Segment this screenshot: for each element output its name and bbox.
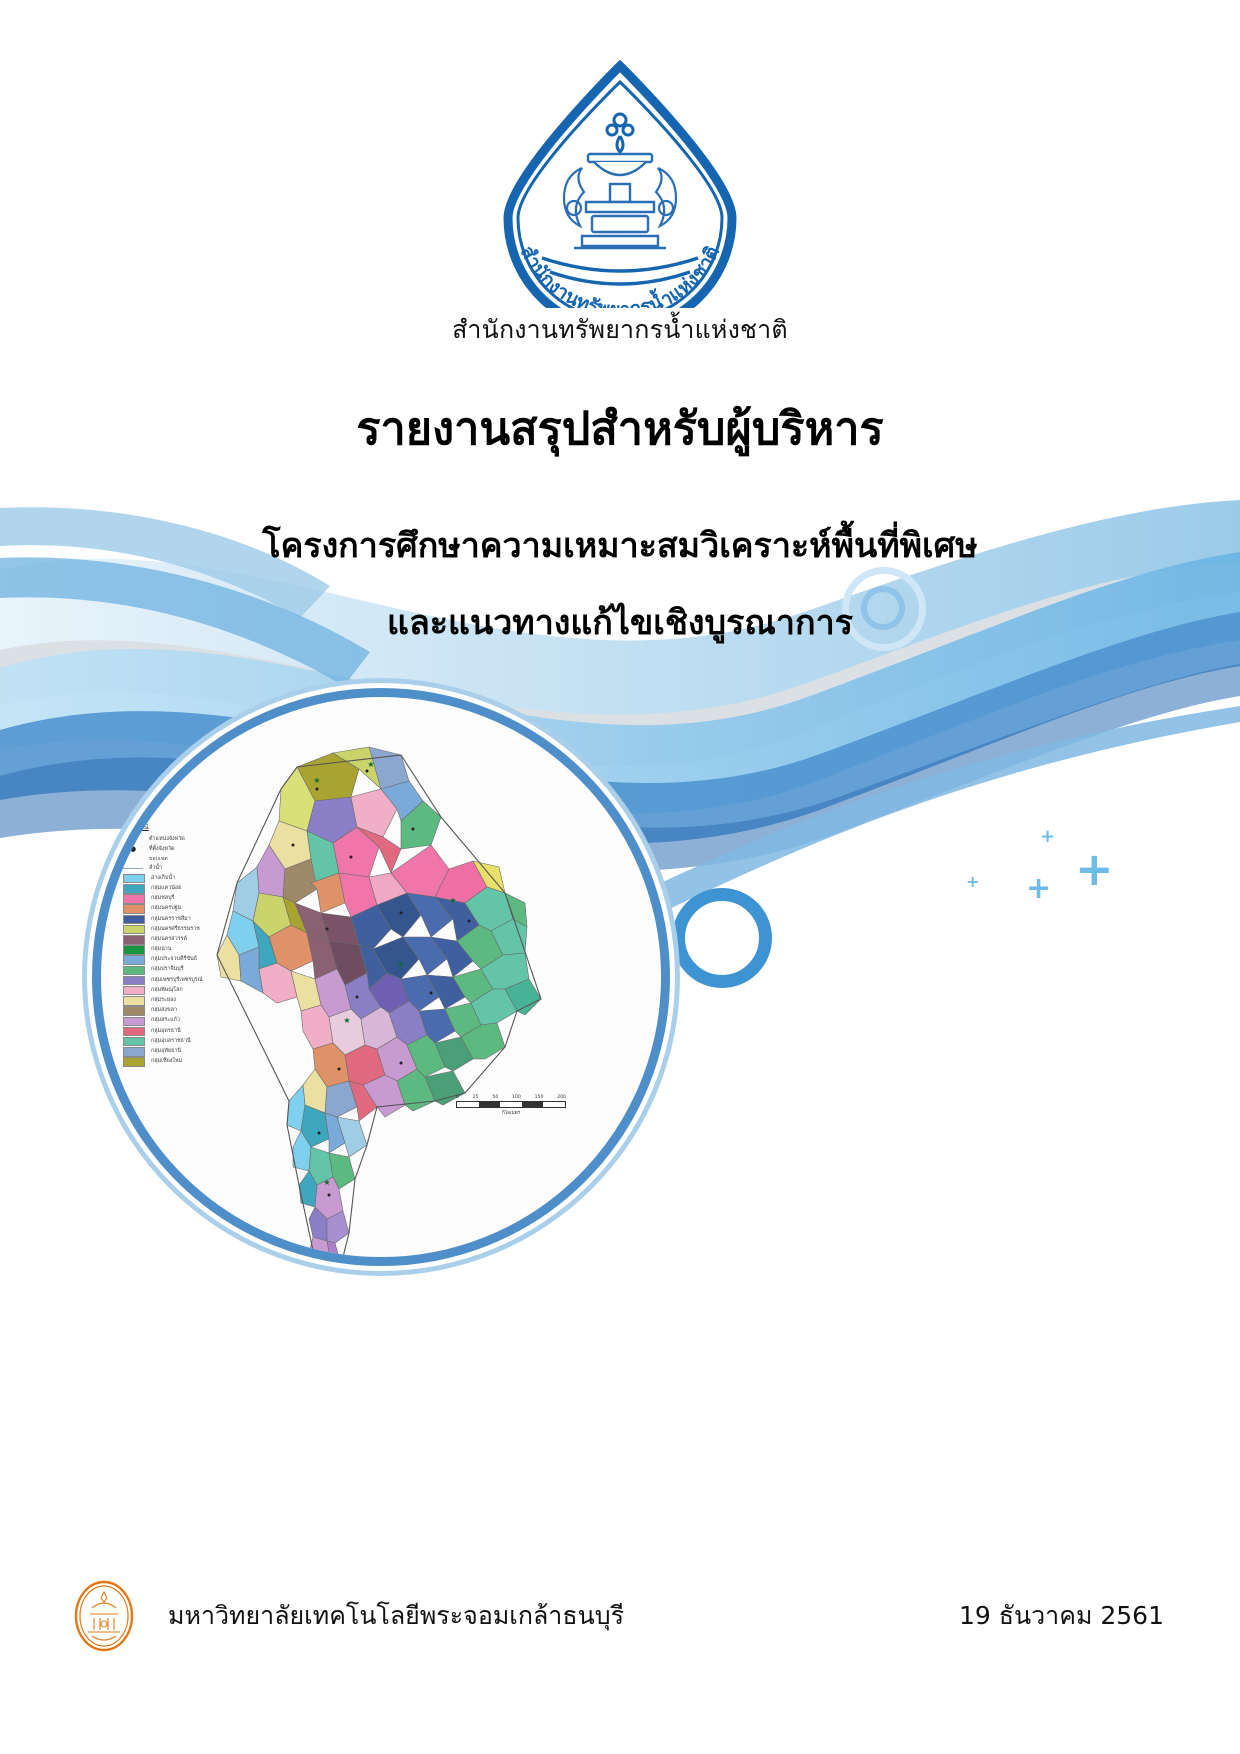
- legend-item: กลุ่มระยอง: [123, 996, 241, 1005]
- legend-line-row: ลำน้ำ: [123, 864, 241, 873]
- legend-color-swatch: [123, 945, 145, 955]
- scale-tick-label: 50: [492, 1095, 498, 1100]
- legend-label: กลุ่มสระแก้ว: [151, 1018, 180, 1024]
- legend-color-swatch: [123, 1047, 145, 1057]
- legend-color-swatch: [123, 894, 145, 904]
- legend-label: กลุ่มนครสวรรค์: [151, 937, 187, 943]
- legend-label: อ่างเก็บน้ำ: [151, 876, 175, 882]
- legend-item: กลุ่มนครสวรรค์: [123, 935, 241, 944]
- legend-color-swatch: [123, 986, 145, 996]
- document-date: 19 ธันวาคม 2561: [959, 1596, 1164, 1636]
- legend-label: กลุ่มปราจีนบุรี: [151, 967, 184, 973]
- project-subtitle-line2: และแนวทางแก้ไขเชิงบูรณาการ: [0, 595, 1240, 649]
- legend-point-row: ★ ตำแหน่งจังหวัด: [123, 835, 241, 844]
- legend-color-swatch: [123, 966, 145, 976]
- legend-item: กลุ่มน่าน: [123, 945, 241, 954]
- legend-point-row: ● ที่ตั้งจังหวัด: [123, 845, 241, 854]
- svg-text:★: ★: [449, 896, 456, 905]
- project-subtitle-line1: โครงการศึกษาความเหมาะสมวิเคราะห์พื้นที่พ…: [0, 518, 1240, 572]
- legend-color-swatch: [123, 874, 145, 884]
- line-swatch: [123, 868, 143, 869]
- university-name: มหาวิทยาลัยเทคโนโลยีพระจอมเกล้าธนบุรี: [168, 1596, 624, 1636]
- legend-color-swatch: [123, 884, 145, 894]
- legend-label: กลุ่มพิษณุโลก: [151, 988, 183, 994]
- scale-bar-graphic: [456, 1101, 566, 1108]
- legend-color-swatch: [123, 1057, 145, 1067]
- legend-color-swatch: [123, 1037, 145, 1047]
- page-title: รายงานสรุปสำหรับผู้บริหาร: [0, 392, 1240, 464]
- star-icon: ★: [123, 836, 143, 844]
- legend-item: กลุ่มเชียงใหม่: [123, 1058, 241, 1067]
- svg-text:★: ★: [397, 960, 404, 969]
- legend-item: กลุ่มนครราชสีมา: [123, 915, 241, 924]
- cover-page: + + + +: [0, 0, 1240, 1754]
- legend-item: กลุ่มสระแก้ว: [123, 1017, 241, 1026]
- legend-label: ลำน้ำ: [149, 866, 162, 872]
- svg-text:★: ★: [343, 1016, 350, 1025]
- compass-icon: [101, 697, 141, 741]
- legend-color-swatch: [123, 955, 145, 965]
- legend-title: สัญลักษณ์: [123, 825, 241, 831]
- scale-tick-label: 100: [512, 1095, 521, 1100]
- page-footer: มหาวิทยาลัยเทคโนโลยีพระจอมเกล้าธนบุรี 19…: [0, 1580, 1240, 1660]
- sparkle-icon-2: +: [1026, 874, 1051, 904]
- legend-color-swatch: [123, 976, 145, 986]
- legend-item: กลุ่มพิษณุโลก: [123, 986, 241, 995]
- legend-label: กลุ่มอุทัยธานี: [151, 1049, 181, 1055]
- decorative-ring-accent: [672, 888, 772, 988]
- legend-label: ตำแหน่งจังหวัด: [149, 837, 185, 843]
- legend-item: อ่างเก็บน้ำ: [123, 874, 241, 883]
- legend-item: กลุ่มอุดรธานี: [123, 1027, 241, 1036]
- scale-tick-label: 0: [456, 1095, 459, 1100]
- legend-label: กลุ่มเชียงใหม่: [151, 1059, 182, 1065]
- legend-color-swatch: [123, 996, 145, 1006]
- legend-label: กลุ่มนครราชสีมา: [151, 917, 191, 923]
- legend-label: กลุ่มเพชรบุรีเพชรบูรณ์: [151, 978, 203, 984]
- legend-item: กลุ่มแควน้อย: [123, 884, 241, 893]
- legend-label: กลุ่มระยอง: [151, 998, 176, 1004]
- legend-item: กลุ่มปราจีนบุรี: [123, 966, 241, 975]
- legend-label: กลุ่มนครปฐม: [151, 906, 181, 912]
- scale-tick-label: 150: [535, 1095, 544, 1100]
- thailand-map-illustration: ★★ ★★ ★★ สัญลักษณ์ ★ ตำแหน่งจังหวัด ● ที…: [92, 688, 670, 1266]
- university-seal-logo: [74, 1580, 134, 1652]
- sparkle-icon-4: +: [966, 874, 979, 890]
- legend-item: กลุ่มเพชรบุรีเพชรบูรณ์: [123, 976, 241, 985]
- sparkle-icon-3: +: [1040, 828, 1055, 846]
- legend-color-swatch: [123, 1027, 145, 1037]
- map-scale-bar: 02550100150200 กิโลเมตร: [456, 1095, 566, 1117]
- organization-logo: สำนักงานทรัพยากรน้ำแห่งชาติ: [0, 58, 1240, 312]
- scale-tick-label: 200: [557, 1095, 566, 1100]
- legend-item: กลุ่มอุบลราชธานี: [123, 1037, 241, 1046]
- legend-item: กลุ่มนครปฐม: [123, 905, 241, 914]
- svg-text:★: ★: [313, 776, 320, 785]
- legend-item: กลุ่มประจวบคีรีขันธ์: [123, 956, 241, 965]
- legend-subheader: ขอบเขต: [149, 857, 241, 862]
- legend-label: กลุ่มอุบลราชธานี: [151, 1039, 191, 1045]
- legend-color-swatch: [123, 904, 145, 914]
- legend-item: กลุ่มอุทัยธานี: [123, 1047, 241, 1056]
- organization-name: สำนักงานทรัพยากรน้ำแห่งชาติ: [0, 310, 1240, 350]
- dot-icon: ●: [123, 846, 143, 853]
- legend-color-swatch: [123, 1006, 145, 1016]
- scale-tick-label: 25: [473, 1095, 479, 1100]
- svg-text:★: ★: [323, 1178, 330, 1187]
- legend-color-swatch: [123, 935, 145, 945]
- legend-item: กลุ่มชลบุรี: [123, 895, 241, 904]
- legend-label: กลุ่มน่าน: [151, 947, 172, 953]
- legend-label: กลุ่มอุดรธานี: [151, 1029, 181, 1035]
- legend-label: กลุ่มสงขลา: [151, 1008, 177, 1014]
- legend-label: กลุ่มแควน้อย: [151, 886, 181, 892]
- legend-label: กลุ่มนครศรีธรรมราช: [151, 927, 200, 933]
- svg-text:★: ★: [367, 760, 374, 769]
- scale-unit: กิโลเมตร: [456, 1110, 566, 1117]
- legend-label: กลุ่มชลบุรี: [151, 896, 174, 902]
- sparkle-icon-1: +: [1075, 846, 1114, 892]
- legend-label: กลุ่มประจวบคีรีขันธ์: [151, 957, 197, 963]
- legend-color-swatch: [123, 1017, 145, 1027]
- legend-color-swatch: [123, 925, 145, 935]
- legend-item: กลุ่มนครศรีธรรมราช: [123, 925, 241, 934]
- legend-swatch-list: อ่างเก็บน้ำกลุ่มแควน้อยกลุ่มชลบุรีกลุ่มน…: [123, 874, 241, 1066]
- map-legend: สัญลักษณ์ ★ ตำแหน่งจังหวัด ● ที่ตั้งจังห…: [123, 825, 241, 1068]
- legend-color-swatch: [123, 915, 145, 925]
- legend-item: กลุ่มสงขลา: [123, 1007, 241, 1016]
- legend-label: ที่ตั้งจังหวัด: [149, 847, 175, 853]
